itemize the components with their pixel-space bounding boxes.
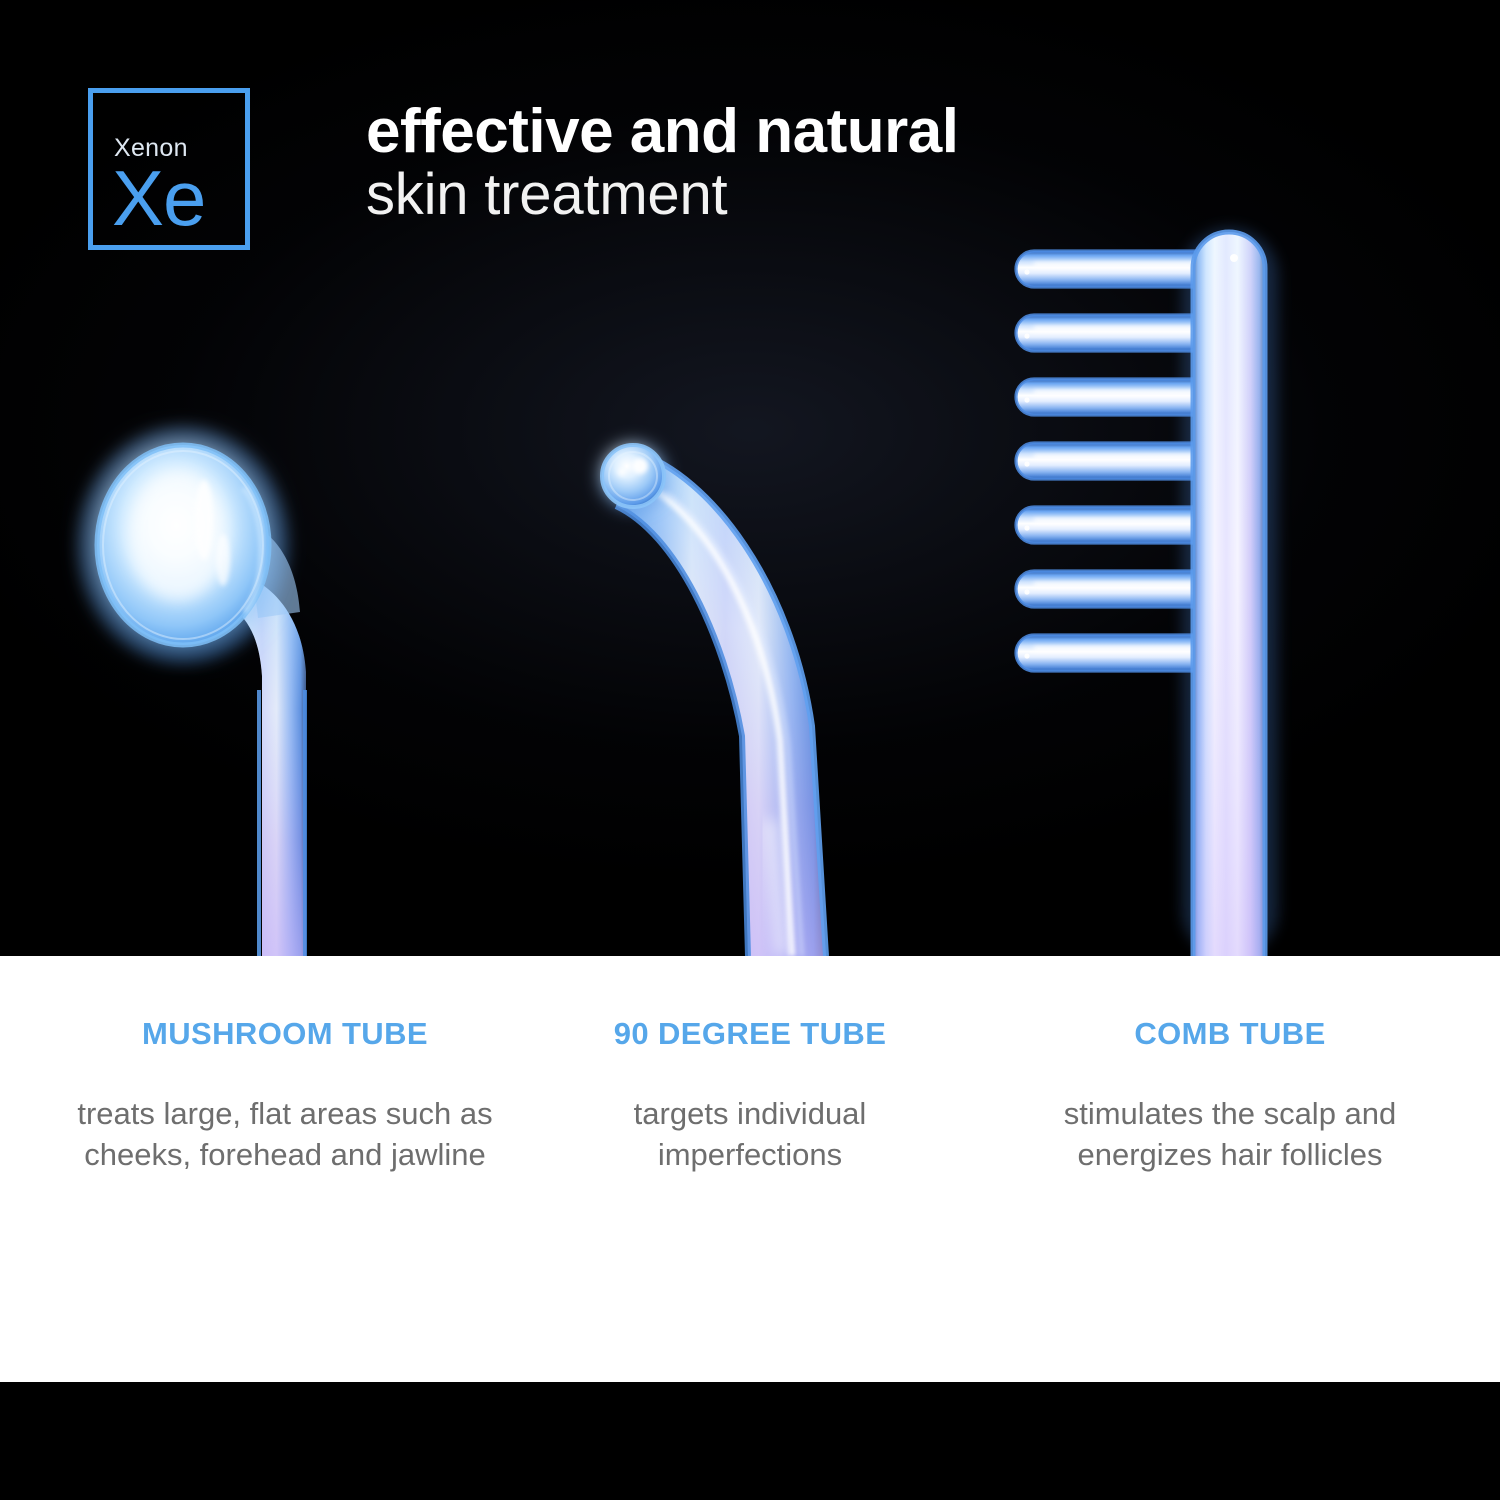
mushroom-tube-illustration [78,427,306,956]
comb-tube-illustration [1016,228,1278,956]
product-column-comb-tube: COMB TUBE stimulates the scalp and energ… [1000,1018,1460,1175]
product-illustrations [0,0,1500,956]
product-description-comb-tube: stimulates the scalp and energizes hair … [1000,1093,1460,1175]
product-title-ninety-degree-tube: 90 DEGREE TUBE [540,1018,960,1049]
ninety-degree-tube-illustration [602,445,826,956]
description-panel: MUSHROOM TUBE treats large, flat areas s… [0,956,1500,1382]
product-description-mushroom-tube: treats large, flat areas such as cheeks,… [40,1093,530,1175]
product-column-ninety-degree-tube: 90 DEGREE TUBE targets individual imperf… [540,1018,960,1175]
product-title-comb-tube: COMB TUBE [1000,1018,1460,1049]
product-title-mushroom-tube: MUSHROOM TUBE [40,1018,530,1049]
product-column-mushroom-tube: MUSHROOM TUBE treats large, flat areas s… [40,1018,530,1175]
hero-section: Xenon Xe effective and natural skin trea… [0,0,1500,956]
infographic-poster: Xenon Xe effective and natural skin trea… [0,0,1500,1500]
bottom-black-bar [0,1382,1500,1500]
description-columns: MUSHROOM TUBE treats large, flat areas s… [0,956,1500,1382]
product-description-ninety-degree-tube: targets individual imperfections [540,1093,960,1175]
